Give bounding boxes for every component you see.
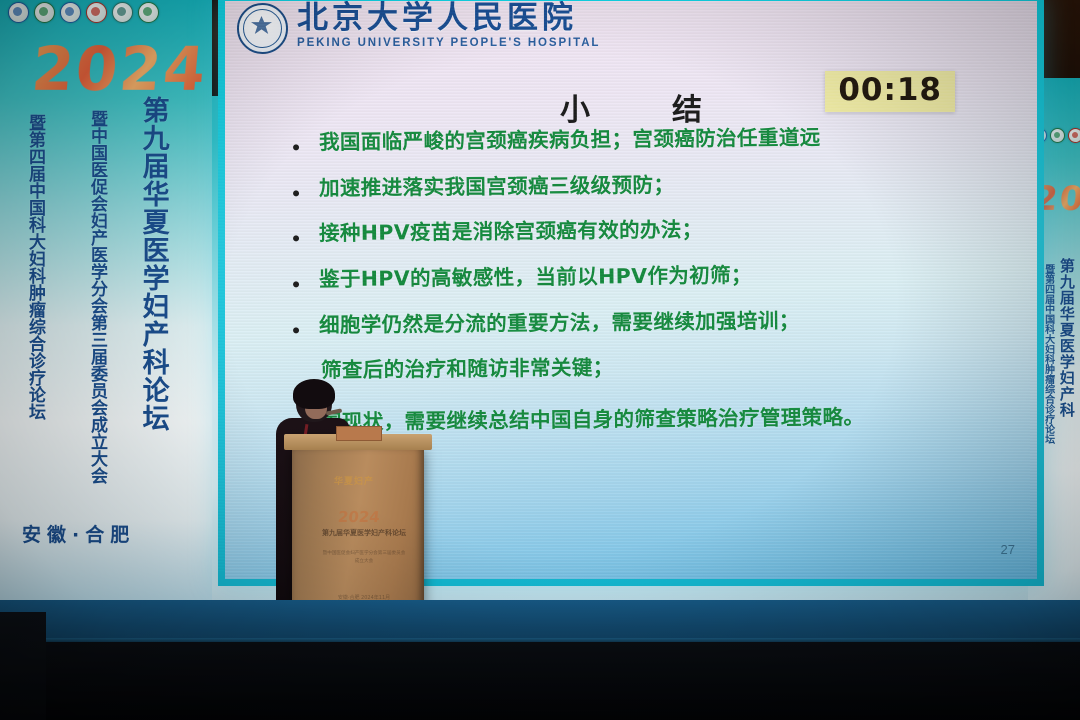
bullet-text: 筛查后的治疗和随访非常关键； <box>321 355 614 383</box>
list-item: 我国面临严峻的宫颈癌疾病负担；宫颈癌防治任重道远 <box>293 124 1001 156</box>
bullet-text: 鉴于HPV的高敏感性，当前以HPV作为初筛； <box>319 263 752 293</box>
institution-name-block: 北京大学人民医院 PEKING UNIVERSITY PEOPLE'S HOSP… <box>297 2 600 50</box>
bullet-dot-icon <box>293 190 299 196</box>
bullet-dot-icon <box>293 144 299 150</box>
bullet-text: 加速推进落实我国宫颈癌三级级预防； <box>319 172 675 201</box>
bullet-text: 我国面临严峻的宫颈癌疾病负担；宫颈癌防治任重道远 <box>319 125 821 155</box>
podium-logo-text: 华夏妇产 <box>334 474 374 487</box>
stage-front-skirt <box>0 642 1080 720</box>
pku-peoples-hospital-seal-icon <box>237 3 288 54</box>
list-item: 加速推进落实我国宫颈癌三级级预防； <box>293 169 1001 201</box>
org-logo-6-icon <box>138 2 159 23</box>
list-item: 筛查后的治疗和随访非常关键； <box>295 352 1001 384</box>
slide-header: 北京大学人民医院 PEKING UNIVERSITY PEOPLE'S HOSP… <box>225 1 1037 57</box>
list-item: 鉴于HPV的高敏感性，当前以HPV作为初筛； <box>293 260 1001 292</box>
slide-page-number: 27 <box>1001 542 1015 557</box>
org-logo-3-icon <box>60 2 81 23</box>
bullet-dot-icon <box>293 281 299 287</box>
institution-name-cn: 北京大学人民医院 <box>297 3 600 34</box>
sponsor-logo-row <box>8 2 159 23</box>
conference-hall-scene: 2024 第九届华夏医学妇产科论坛 暨中国医促会妇产医学分会第三届委员会成立大会… <box>0 0 1080 720</box>
list-item: 接种HPV疫苗是消除宫颈癌有效的办法； <box>293 215 1001 247</box>
institution-name-en: PEKING UNIVERSITY PEOPLE'S HOSPITAL <box>297 38 600 50</box>
org-logo-5-icon <box>112 2 133 23</box>
list-item: 国现状，需要继续总结中国自身的筛查策略治疗管理策略。 <box>295 403 1001 435</box>
banner-sub-title-1: 暨中国医促会妇产医学分会第三届委员会成立大会 <box>88 110 106 540</box>
org-logo-r3-icon <box>1068 128 1080 143</box>
org-logo-1-icon <box>8 2 29 23</box>
countdown-timer: 00:18 <box>825 71 955 112</box>
bullet-text: 接种HPV疫苗是消除宫颈癌有效的办法； <box>319 218 703 247</box>
bullet-text: 国现状，需要继续总结中国自身的筛查策略治疗管理策略。 <box>321 405 865 436</box>
list-item: 细胞学仍然是分流的重要方法，需要继续加强培训； <box>293 306 1001 338</box>
bullet-text: 细胞学仍然是分流的重要方法，需要继续加强培训； <box>319 308 800 338</box>
speaker-hair <box>293 379 335 409</box>
stage-left-block <box>0 612 46 720</box>
conference-banner-left: 2024 第九届华夏医学妇产科论坛 暨中国医促会妇产医学分会第三届委员会成立大会… <box>0 0 212 604</box>
org-logo-r2-icon <box>1050 128 1065 143</box>
slide-bullet-list: 我国面临严峻的宫颈癌疾病负担；宫颈癌防治任重道远 加速推进落实我国宫颈癌三级级预… <box>293 127 1001 452</box>
podium-year: 2024 <box>337 508 381 526</box>
podium-nameplate <box>336 426 382 441</box>
org-logo-4-icon <box>86 2 107 23</box>
bullet-dot-icon <box>293 236 299 242</box>
banner-year: 2024 <box>29 40 209 100</box>
bullet-dot-icon <box>293 327 299 333</box>
org-logo-2-icon <box>34 2 55 23</box>
banner-location: 安徽·合肥 <box>22 520 135 547</box>
podium-title: 第九届华夏医学妇产科论坛 <box>318 528 410 539</box>
podium-subtitle: 暨中国医促会妇产医学分会第三届委员会成立大会 <box>322 550 406 566</box>
banner-main-title: 第九届华夏医学妇产科论坛 <box>138 96 167 566</box>
banner-right-main-title: 第九届华夏医学妇产科 <box>1058 258 1074 578</box>
banner-sub-title-2: 暨第四届中国科大妇科肿瘤综合诊疗论坛 <box>26 114 44 544</box>
